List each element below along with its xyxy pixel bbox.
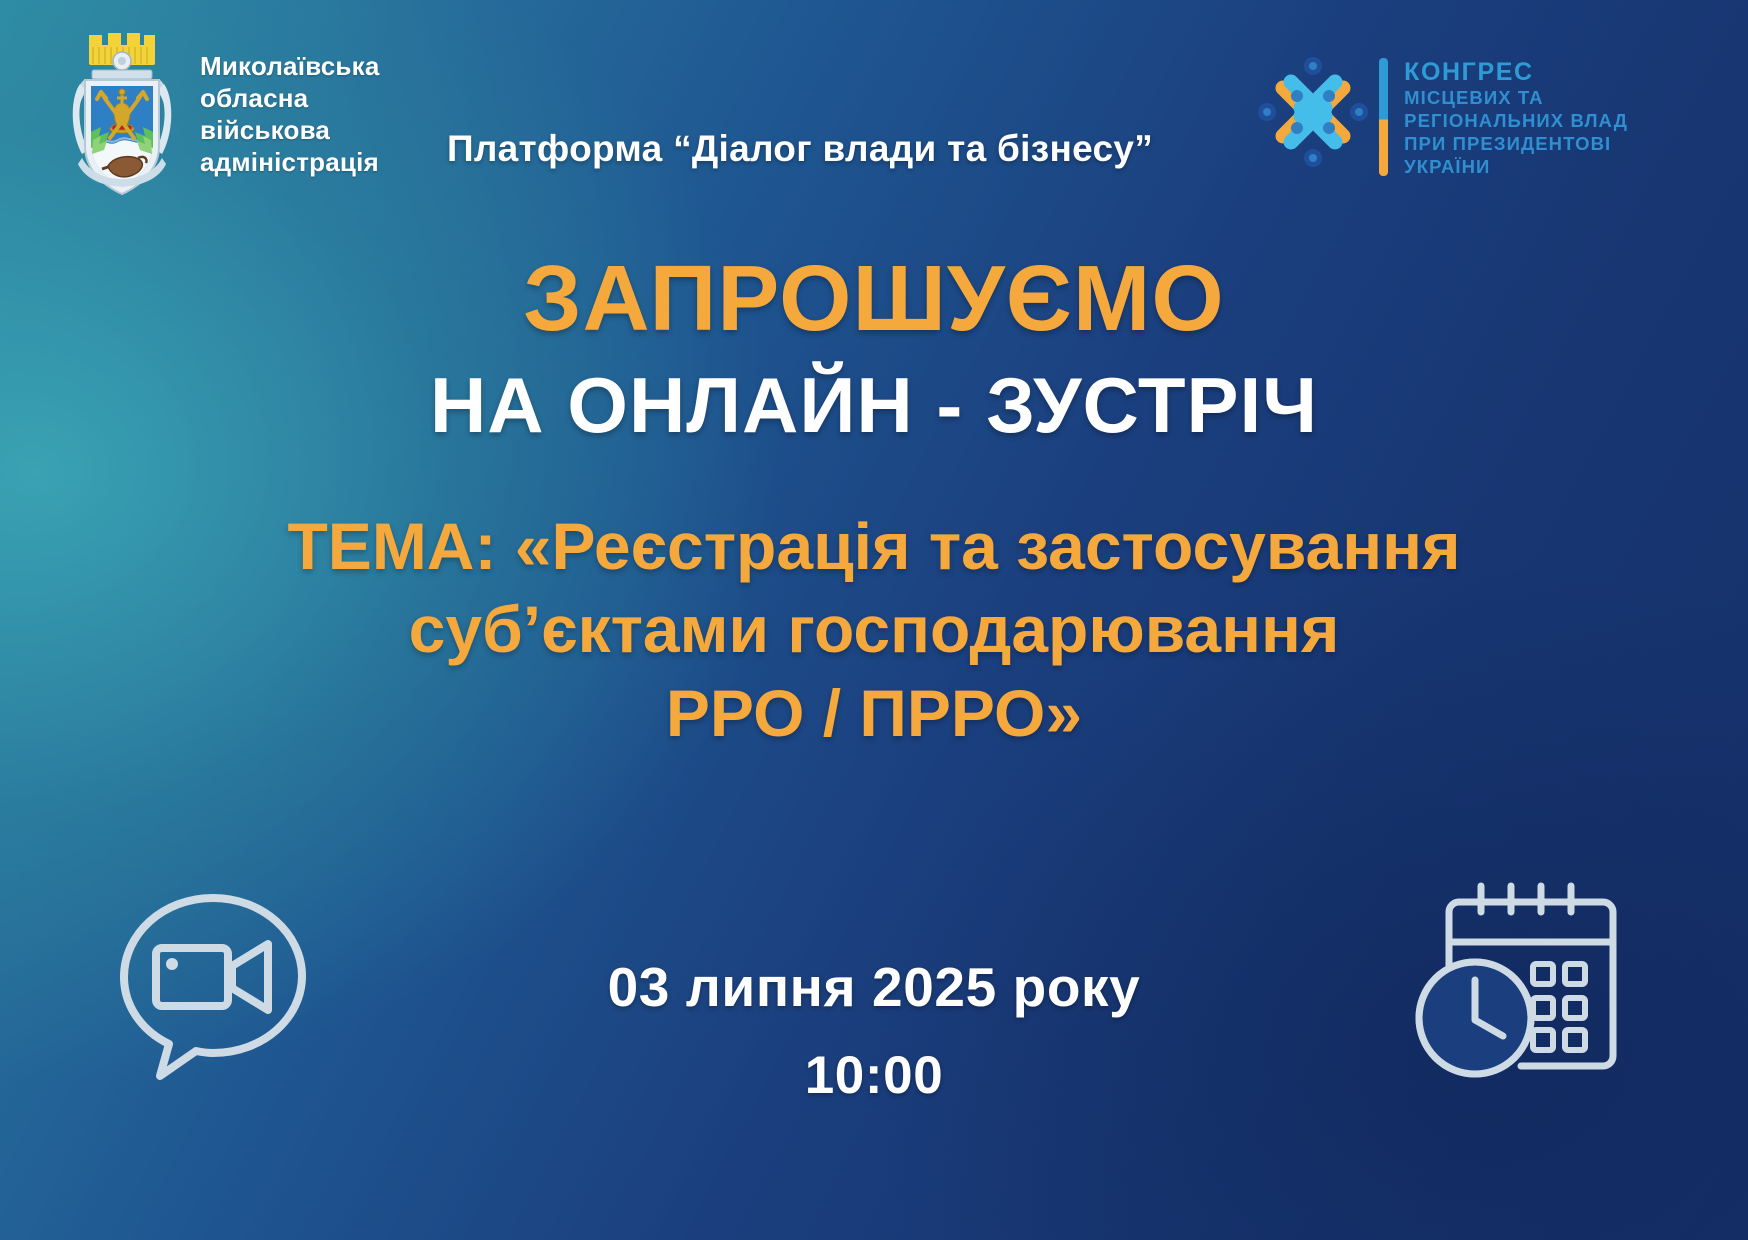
- congress-flag-divider: [1379, 58, 1388, 176]
- video-chat-bubble-icon: [108, 880, 318, 1090]
- topic-line-1: ТЕМА: «Реєстрація та застосування: [0, 505, 1748, 588]
- poster-header: Миколаївська обласна військова адміністр…: [0, 0, 1748, 210]
- congress-line-2: МІСЦЕВИХ ТА: [1404, 86, 1628, 109]
- org-line-3: військова: [200, 114, 380, 146]
- congress-line-3: РЕГІОНАЛЬНИХ ВЛАД: [1404, 109, 1628, 132]
- invite-headline: ЗАПРОШУЄМО: [0, 252, 1748, 345]
- org-line-1: Миколаївська: [200, 50, 380, 82]
- main-content: ЗАПРОШУЄМО НА ОНЛАЙН - ЗУСТРІЧ ТЕМА: «Ре…: [0, 252, 1748, 755]
- congress-line-4: ПРИ ПРЕЗИДЕНТОВІ: [1404, 132, 1628, 155]
- calendar-clock-icon: [1413, 880, 1638, 1085]
- poster-root: Миколаївська обласна військова адміністр…: [0, 0, 1748, 1240]
- org-line-2: обласна: [200, 82, 380, 114]
- topic-line-3: РРО / ПРРО»: [0, 672, 1748, 755]
- congress-line-5: УКРАЇНИ: [1404, 155, 1628, 178]
- congress-line-1: КОНГРЕС: [1404, 60, 1628, 86]
- congress-cross-weave-logo-icon: [1257, 56, 1369, 168]
- organization-block: Миколаївська обласна військова адміністр…: [62, 28, 380, 200]
- topic-block: ТЕМА: «Реєстрація та застосування суб’єк…: [0, 505, 1748, 754]
- platform-title: Платформа “Діалог влади та бізнесу”: [430, 128, 1170, 170]
- congress-logo-block: КОНГРЕС МІСЦЕВИХ ТА РЕГІОНАЛЬНИХ ВЛАД ПР…: [1257, 56, 1628, 179]
- invite-subheadline: НА ОНЛАЙН - ЗУСТРІЧ: [0, 363, 1748, 447]
- congress-wordmark: КОНГРЕС МІСЦЕВИХ ТА РЕГІОНАЛЬНИХ ВЛАД ПР…: [1404, 56, 1628, 179]
- org-line-4: адміністрація: [200, 146, 380, 178]
- topic-line-2: суб’єктами господарювання: [0, 588, 1748, 671]
- mykolaiv-coat-of-arms-icon: [62, 28, 182, 200]
- organization-name: Миколаївська обласна військова адміністр…: [200, 50, 380, 179]
